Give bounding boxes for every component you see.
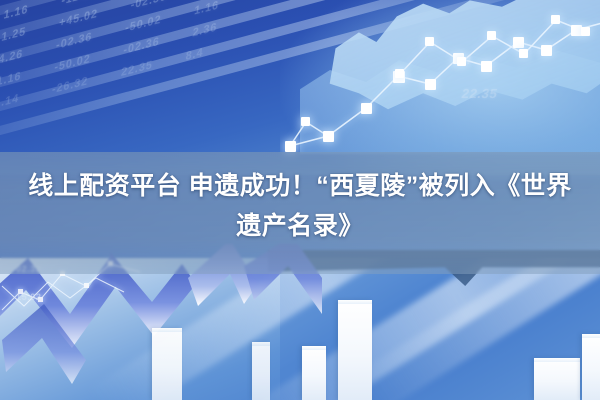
ticker-value: +45.02 [58, 7, 98, 29]
ticker-value: -26.32 [51, 75, 88, 97]
mini-label: 15.02 [16, 292, 42, 302]
node-marker [395, 69, 404, 78]
title-line-1: 线上配资平台 申遗成功！“西夏陵”被列入《世界 [28, 166, 571, 206]
bar-column [302, 346, 326, 400]
node-marker [513, 37, 524, 48]
bar-top-face [252, 342, 270, 346]
ticker-value: -11.25 [61, 0, 98, 8]
bar-column [152, 328, 182, 400]
ticker-value: 1.14 [0, 92, 20, 111]
ticker-value: -50.02 [54, 53, 91, 75]
ticker-value: 1.16 [3, 3, 29, 22]
node-marker [581, 27, 590, 36]
network-polyline-lower [290, 22, 600, 146]
ticker-value: -02.36 [55, 30, 92, 52]
ticker-value: 1.25 [1, 25, 27, 44]
ticker-value: -50.02 [125, 13, 162, 35]
ticker-value: 22.35 [120, 59, 153, 80]
bar-top-face [152, 328, 182, 332]
bar-column [534, 358, 580, 400]
node-marker [487, 31, 496, 40]
banner-title: 线上配资平台 申遗成功！“西夏陵”被列入《世界 遗产名录》 [0, 160, 600, 264]
bar-column [338, 300, 372, 400]
node-marker [301, 117, 310, 126]
title-line-2: 遗产名录》 [236, 206, 364, 246]
bar-top-face [582, 334, 600, 338]
node-marker [285, 141, 296, 152]
node-marker [425, 37, 434, 46]
ticker-value: -02.36 [130, 0, 167, 12]
node-marker [361, 103, 372, 114]
ticker-value: 2.36 [192, 21, 218, 40]
ticker-value: 1.16 [194, 0, 220, 18]
ticker-value: -02.36 [123, 35, 160, 57]
node-marker [571, 25, 582, 36]
network-polyline-upper [400, 20, 586, 74]
mini-node [84, 283, 89, 288]
bar-top-face [338, 300, 372, 304]
network-line-chart [280, 0, 600, 166]
node-marker [457, 57, 466, 66]
bar-column [582, 334, 600, 400]
bar-column [252, 342, 270, 400]
ticker-value: 1.16 [0, 70, 22, 89]
node-marker [519, 49, 528, 58]
bar-top-face [534, 358, 580, 362]
ticker-value: 8.4 [185, 46, 204, 63]
node-marker [481, 61, 492, 72]
banner-image: -45.02 -02.36 -11.25 -02.36 21.02 -50.02… [0, 0, 600, 400]
node-marker [551, 15, 560, 24]
bar-top-face [302, 346, 326, 350]
ticker-value: 4.26 [0, 48, 24, 67]
node-marker [323, 131, 334, 142]
node-marker [425, 79, 436, 90]
node-marker [541, 45, 552, 56]
